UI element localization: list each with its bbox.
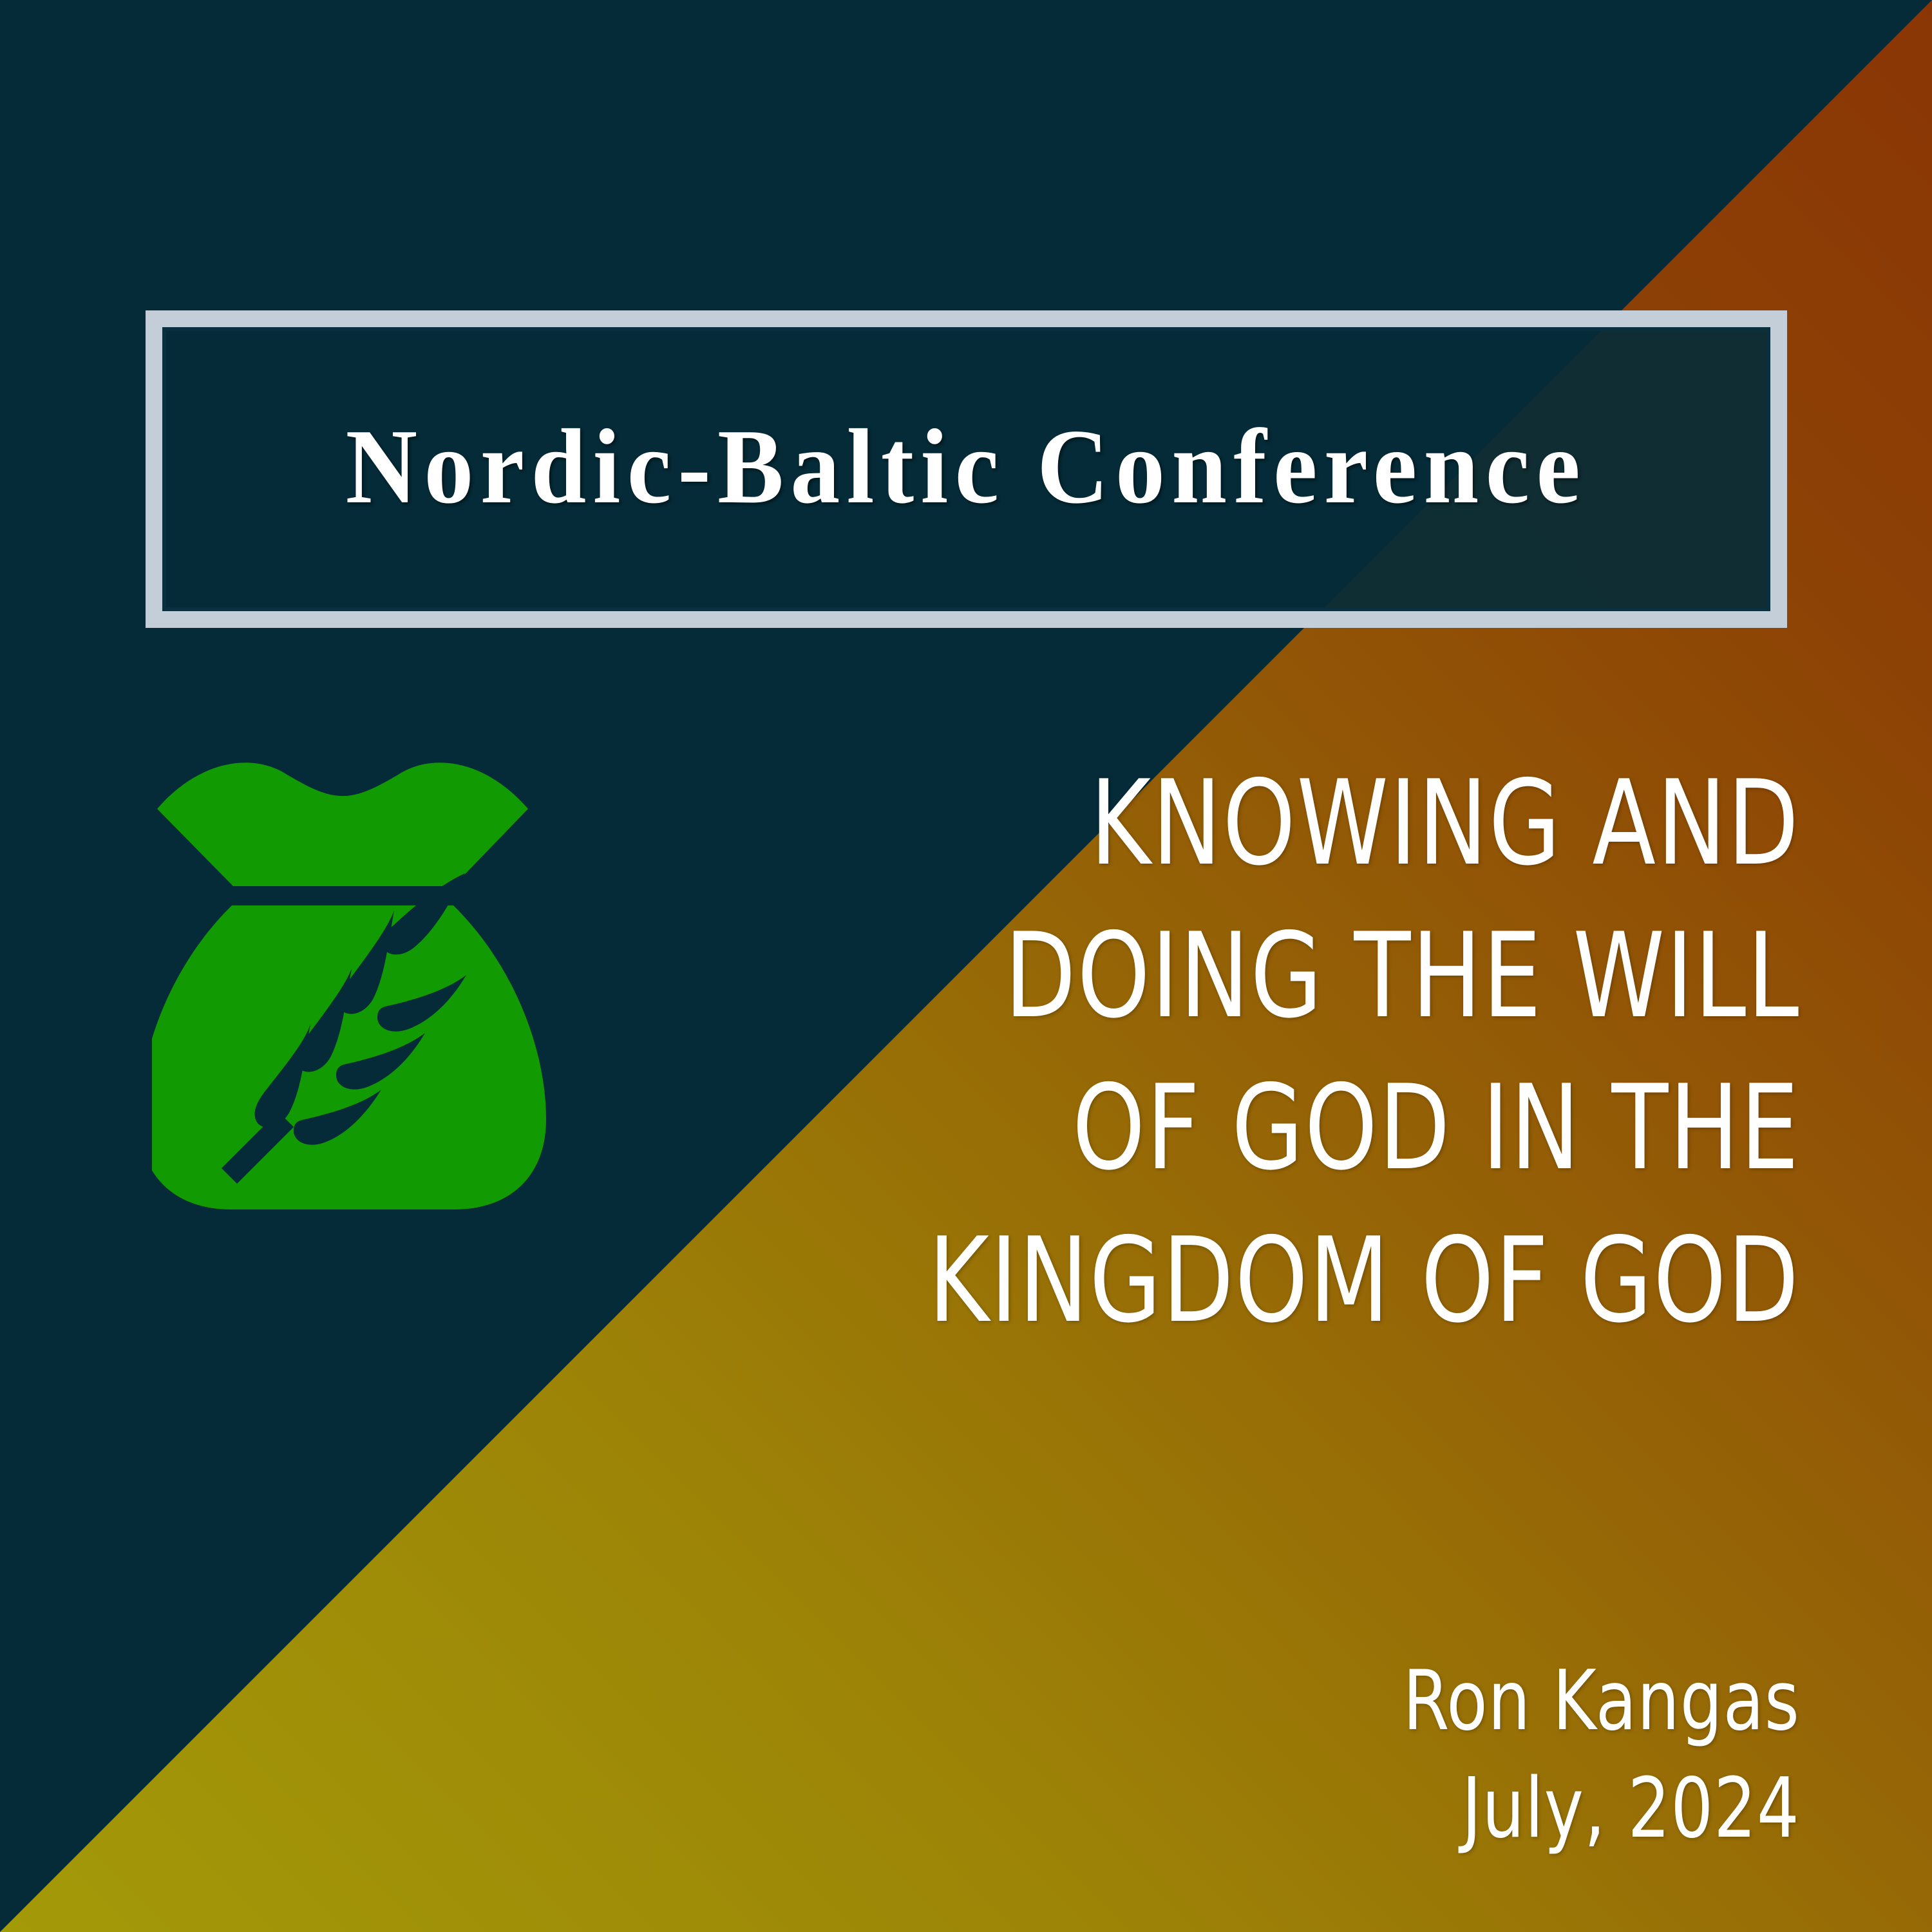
headline-line-1: KNOWING AND: [837, 747, 1800, 900]
headline-line-4: KINGDOM OF GOD: [837, 1204, 1800, 1357]
grain-sack-icon: [152, 759, 558, 1229]
title-banner-frame: Nordic-Baltic Conference: [146, 310, 1787, 628]
speaker-credit: Ron Kangas July, 2024: [1403, 1648, 1800, 1862]
headline: KNOWING AND DOING THE WILL OF GOD IN THE…: [837, 747, 1800, 1356]
headline-line-3: OF GOD IN THE: [837, 1052, 1800, 1204]
speaker-name: Ron Kangas: [1403, 1648, 1800, 1755]
presentation-date: July, 2024: [1403, 1756, 1800, 1862]
presentation-slide: Nordic-Baltic Conference: [0, 0, 1932, 1932]
headline-line-2: DOING THE WILL: [837, 900, 1800, 1052]
title-banner-inner: Nordic-Baltic Conference: [162, 327, 1770, 611]
page-title: Nordic-Baltic Conference: [346, 413, 1587, 526]
